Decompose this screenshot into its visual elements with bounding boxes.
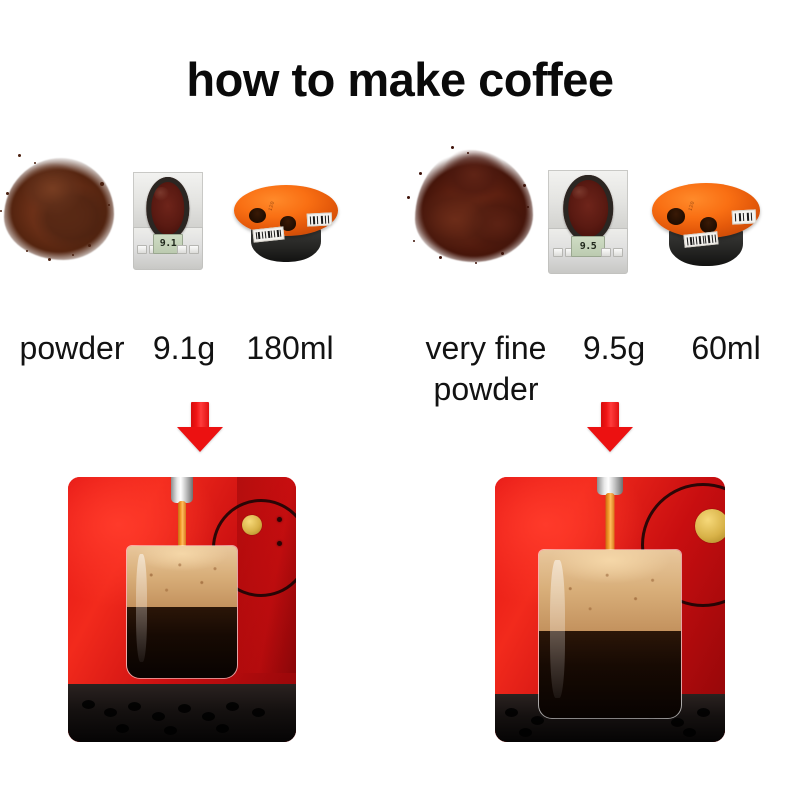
down-arrow-icon (587, 402, 633, 452)
arrow-container (0, 402, 400, 452)
brewing-photo-right (495, 477, 725, 742)
coffee-powder-fine-icon (405, 144, 533, 269)
ingredient-row: 9.5 120 (400, 140, 800, 305)
grind-label: very fine powder (410, 328, 562, 410)
down-arrow-icon (177, 402, 223, 452)
scale-lcd-display: 9.5 (571, 236, 605, 258)
recipe-column-left: 9.1 120 powder 9.1g 180ml (0, 140, 400, 780)
digital-kitchen-scale-right: 9.5 (548, 170, 628, 274)
coffee-powder-coarse-icon (0, 148, 124, 273)
recipe-column-right: 9.5 120 very fine powder 9.5g 60ml (400, 140, 800, 780)
volume-label: 60ml (666, 328, 786, 369)
page-title: how to make coffee (0, 56, 800, 103)
volume-label: 180ml (230, 328, 350, 369)
brewing-photo-left (68, 477, 296, 742)
coffee-glass (538, 549, 682, 719)
orange-coffee-capsule-left: 120 (234, 180, 338, 262)
weight-label: 9.5g (562, 328, 666, 369)
spec-row: very fine powder 9.5g 60ml (400, 328, 800, 410)
coffee-spout-icon (171, 477, 193, 503)
orange-coffee-capsule-right: 120 (652, 178, 760, 266)
drip-tray (68, 684, 296, 742)
arrow-container (400, 402, 800, 452)
ingredient-row: 9.1 120 (0, 140, 400, 305)
scale-reading: 9.5 (580, 242, 597, 252)
scale-reading: 9.1 (160, 239, 177, 249)
digital-kitchen-scale-left: 9.1 (133, 172, 203, 270)
spec-row: powder 9.1g 180ml (0, 328, 406, 369)
coffee-glass (126, 545, 238, 679)
weight-label: 9.1g (138, 328, 230, 369)
grind-label: powder (6, 328, 138, 369)
